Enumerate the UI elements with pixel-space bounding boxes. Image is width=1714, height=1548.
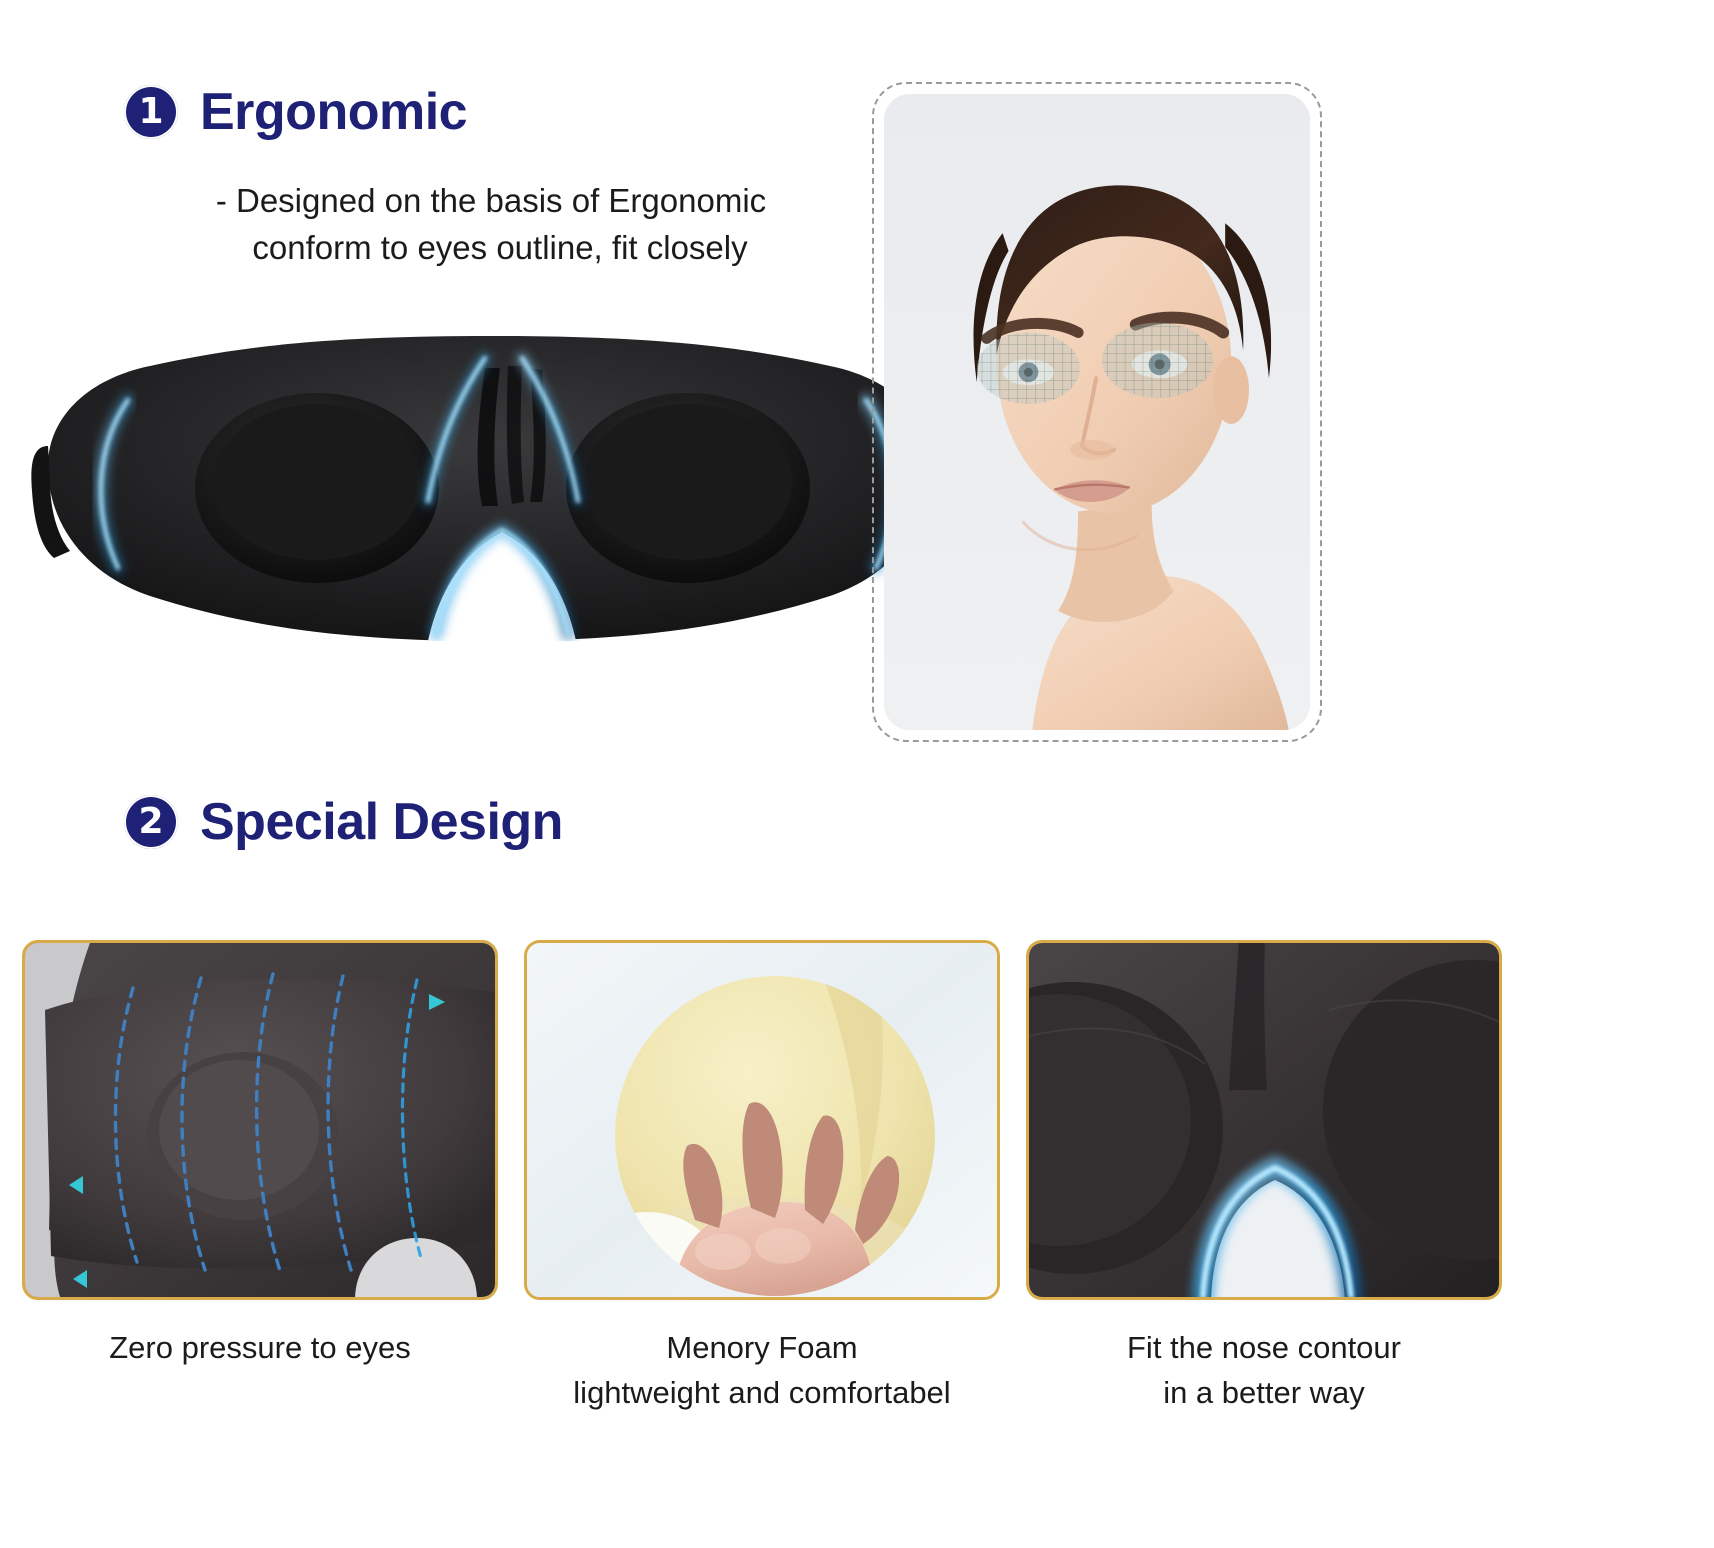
panel-caption-1-line-1: Zero pressure to eyes [22,1326,498,1371]
eye-cavity-closeup-illustration [25,943,495,1297]
panel-caption-1: Zero pressure to eyes [22,1326,498,1371]
section-title-ergonomic: Ergonomic [200,82,467,142]
feature-panel-3: Fit the nose contour in a better way [1026,940,1502,1416]
panel-caption-3-line-1: Fit the nose contour [1026,1326,1502,1371]
face-photo-card [884,94,1310,730]
nose-contour-closeup-illustration [1029,943,1499,1297]
section-number-badge-1: 1 [124,85,178,139]
woman-face-illustration [884,94,1310,730]
panel-caption-2-line-2: lightweight and comfortabel [524,1371,1000,1416]
section-2-heading: 2 Special Design [124,792,563,852]
panel-caption-2: Menory Foam lightweight and comfortabel [524,1326,1000,1416]
panel-caption-3-line-2: in a better way [1026,1371,1502,1416]
panel-caption-3: Fit the nose contour in a better way [1026,1326,1502,1416]
feature-panel-2: Menory Foam lightweight and comfortabel [524,940,1000,1416]
panel-image-zero-pressure [22,940,498,1300]
eye-mask-illustration [30,296,950,641]
section-number-badge-2: 2 [124,795,178,849]
hand-pressing-foam-illustration [527,943,997,1297]
feature-panel-1: Zero pressure to eyes [22,940,498,1416]
panel-image-memory-foam [524,940,1000,1300]
panel-image-nose-contour [1026,940,1502,1300]
face-photo-card-dashed-frame [872,82,1322,742]
panel-caption-2-line-1: Menory Foam [524,1326,1000,1371]
product-photo-eye-mask [30,296,950,641]
section-1-subtitle: - Designed on the basis of Ergonomic con… [150,178,850,272]
section-title-special-design: Special Design [200,792,563,852]
subtitle-line-1: - Designed on the basis of Ergonomic [150,178,850,225]
subtitle-line-2: conform to eyes outline, fit closely [150,225,850,272]
section-1-heading: 1 Ergonomic [124,82,467,142]
feature-panel-row: Zero pressure to eyes [22,940,1502,1416]
